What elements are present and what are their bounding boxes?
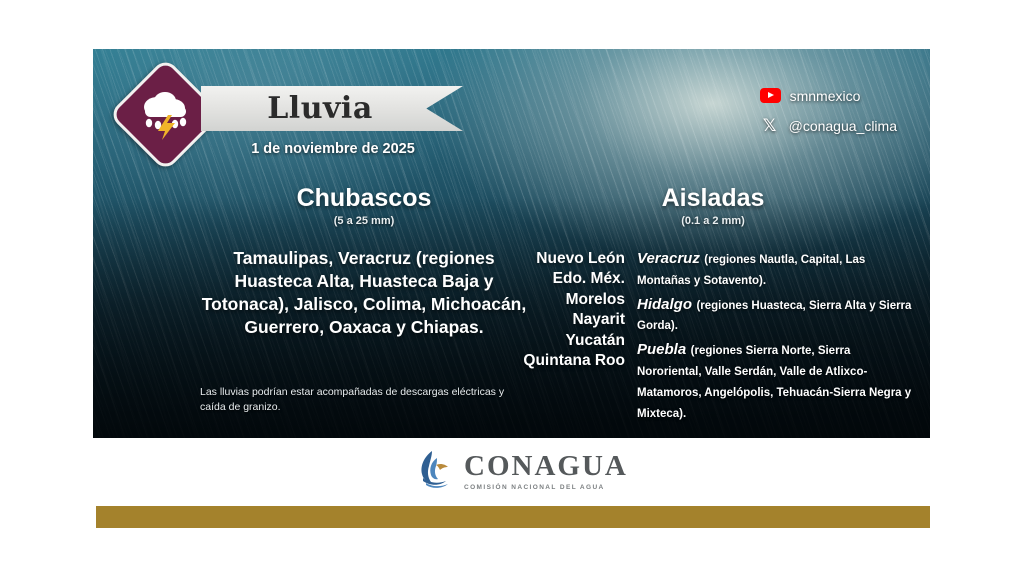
infographic-canvas: Lluvia 1 de noviembre de 2025 smnmexico …	[0, 0, 1024, 576]
conagua-logo-subtitle: COMISIÓN NACIONAL DEL AGUA	[464, 484, 628, 491]
social-handles: smnmexico 𝕏 @conagua_clima	[760, 83, 897, 143]
list-item: Morelos	[513, 290, 625, 310]
list-item: Edo. Méx.	[513, 269, 625, 289]
aisladas-range: (0.1 a 2 mm)	[513, 215, 913, 227]
list-item: Veracruz (regiones Nautla, Capital, Las …	[637, 249, 913, 291]
region-state-name: Veracruz	[637, 250, 700, 267]
list-item: Nayarit	[513, 310, 625, 330]
x-handle: @conagua_clima	[789, 118, 897, 134]
conagua-eagle-water-logo-icon	[418, 449, 454, 494]
list-item: Yucatán	[513, 331, 625, 351]
weather-panel: Lluvia 1 de noviembre de 2025 smnmexico …	[93, 49, 930, 438]
youtube-icon	[760, 88, 781, 103]
aisladas-title: Aisladas	[513, 184, 913, 213]
chubascos-column: Chubascos (5 a 25 mm) Tamaulipas, Veracr…	[199, 184, 529, 339]
region-state-name: Puebla	[637, 341, 686, 358]
rain-thunderstorm-icon	[125, 74, 206, 155]
chubascos-areas: Tamaulipas, Veracruz (regiones Huasteca …	[199, 247, 529, 339]
list-item: Hidalgo (regiones Huasteca, Sierra Alta …	[637, 295, 913, 337]
conagua-logo-name: CONAGUA	[464, 452, 628, 481]
aisladas-column: Aisladas (0.1 a 2 mm) Nuevo León Edo. Mé…	[513, 184, 913, 427]
conagua-logo: CONAGUA COMISIÓN NACIONAL DEL AGUA	[418, 449, 628, 494]
x-twitter-icon: 𝕏	[760, 116, 780, 136]
aisladas-body: Nuevo León Edo. Méx. Morelos Nayarit Yuc…	[513, 249, 913, 427]
gold-footer-bar	[96, 506, 930, 528]
social-x[interactable]: 𝕏 @conagua_clima	[760, 113, 897, 138]
list-item: Puebla (regiones Sierra Norte, Sierra No…	[637, 340, 913, 423]
forecast-date: 1 de noviembre de 2025	[203, 141, 463, 157]
disclaimer-note: Las lluvias podrían estar acompañadas de…	[200, 385, 530, 415]
social-youtube[interactable]: smnmexico	[760, 83, 897, 108]
chubascos-range: (5 a 25 mm)	[199, 215, 529, 227]
chubascos-title: Chubascos	[199, 184, 529, 213]
aisladas-regions-list: Veracruz (regiones Nautla, Capital, Las …	[637, 249, 913, 427]
footer-watermark	[96, 506, 930, 528]
conagua-logo-text: CONAGUA COMISIÓN NACIONAL DEL AGUA	[464, 452, 628, 491]
list-item: Nuevo León	[513, 249, 625, 269]
aisladas-header: Aisladas (0.1 a 2 mm)	[513, 184, 913, 227]
region-state-name: Hidalgo	[637, 296, 692, 313]
youtube-handle: smnmexico	[790, 88, 861, 104]
list-item: Quintana Roo	[513, 351, 625, 371]
page-title: Lluvia	[201, 86, 439, 131]
